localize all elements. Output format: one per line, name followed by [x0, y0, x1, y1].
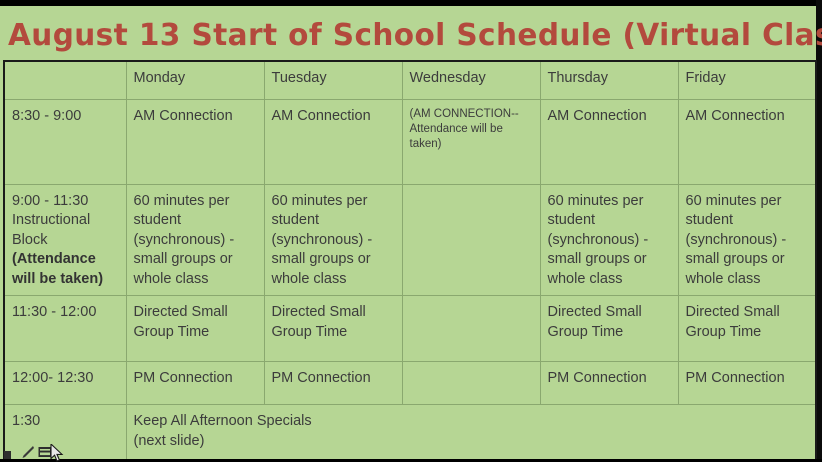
- table-row-afternoon: 1:30 Keep All Afternoon Specials (next s…: [4, 405, 816, 460]
- schedule-table: Monday Tuesday Wednesday Thursday Friday…: [3, 60, 817, 461]
- cell-tuesday-1: 60 minutes per student (synchronous) -sm…: [264, 184, 402, 296]
- cell-thursday-2: Directed Small Group Time: [540, 296, 678, 362]
- header-friday: Friday: [678, 61, 816, 99]
- cell-tuesday-2: Directed Small Group Time: [264, 296, 402, 362]
- cell-friday-2: Directed Small Group Time: [678, 296, 816, 362]
- table-row: 8:30 - 9:00 AM Connection AM Connection …: [4, 99, 816, 184]
- cell-friday-3: PM Connection: [678, 362, 816, 405]
- page-title: August 13 Start of School Schedule (Virt…: [8, 18, 802, 54]
- row-time-1-attendance-note: (Attendance will be taken): [12, 251, 103, 287]
- header-corner-blank: [4, 61, 126, 99]
- schedule-table-wrapper: Monday Tuesday Wednesday Thursday Friday…: [3, 60, 815, 459]
- pen-icon[interactable]: [21, 445, 35, 459]
- table-header-row: Monday Tuesday Wednesday Thursday Friday: [4, 61, 816, 99]
- cell-wednesday-0: (AM CONNECTION-- Attendance will be take…: [402, 99, 540, 184]
- table-row: 11:30 - 12:00 Directed Small Group Time …: [4, 296, 816, 362]
- row-time-2: 11:30 - 12:00: [4, 296, 126, 362]
- row-time-1-main: 9:00 - 11:30 Instructional Block: [12, 193, 90, 248]
- annotation-toolbar[interactable]: [4, 441, 52, 459]
- cell-thursday-0: AM Connection: [540, 99, 678, 184]
- cell-monday-3: PM Connection: [126, 362, 264, 405]
- cell-monday-2: Directed Small Group Time: [126, 296, 264, 362]
- header-thursday: Thursday: [540, 61, 678, 99]
- cell-monday-0: AM Connection: [126, 99, 264, 184]
- top-black-bar: [0, 0, 822, 6]
- cell-wednesday-3: [402, 362, 540, 405]
- cell-monday-1: 60 minutes per student (synchronous) -sm…: [126, 184, 264, 296]
- row-time-1: 9:00 - 11:30 Instructional Block (Attend…: [4, 184, 126, 296]
- cell-wednesday-2: [402, 296, 540, 362]
- cell-tuesday-3: PM Connection: [264, 362, 402, 405]
- cell-thursday-3: PM Connection: [540, 362, 678, 405]
- header-wednesday: Wednesday: [402, 61, 540, 99]
- header-monday: Monday: [126, 61, 264, 99]
- shape-icon[interactable]: [4, 445, 18, 459]
- row-time-3: 12:00- 12:30: [4, 362, 126, 405]
- cell-friday-1: 60 minutes per student (synchronous) -sm…: [678, 184, 816, 296]
- cell-friday-0: AM Connection: [678, 99, 816, 184]
- afternoon-line-1: Keep All Afternoon Specials: [134, 412, 809, 432]
- cell-wednesday-1: [402, 184, 540, 296]
- table-row: 9:00 - 11:30 Instructional Block (Attend…: [4, 184, 816, 296]
- cell-thursday-1: 60 minutes per student (synchronous) -sm…: [540, 184, 678, 296]
- afternoon-line-2: (next slide): [134, 432, 809, 452]
- table-row: 12:00- 12:30 PM Connection PM Connection…: [4, 362, 816, 405]
- cell-wednesday-0-note: (AM CONNECTION-- Attendance will be take…: [410, 107, 533, 152]
- cell-afternoon-specials: Keep All Afternoon Specials (next slide): [126, 405, 816, 460]
- row-time-0: 8:30 - 9:00: [4, 99, 126, 184]
- cell-tuesday-0: AM Connection: [264, 99, 402, 184]
- header-tuesday: Tuesday: [264, 61, 402, 99]
- mouse-cursor-icon: [50, 444, 64, 462]
- slide-canvas: August 13 Start of School Schedule (Virt…: [0, 0, 822, 462]
